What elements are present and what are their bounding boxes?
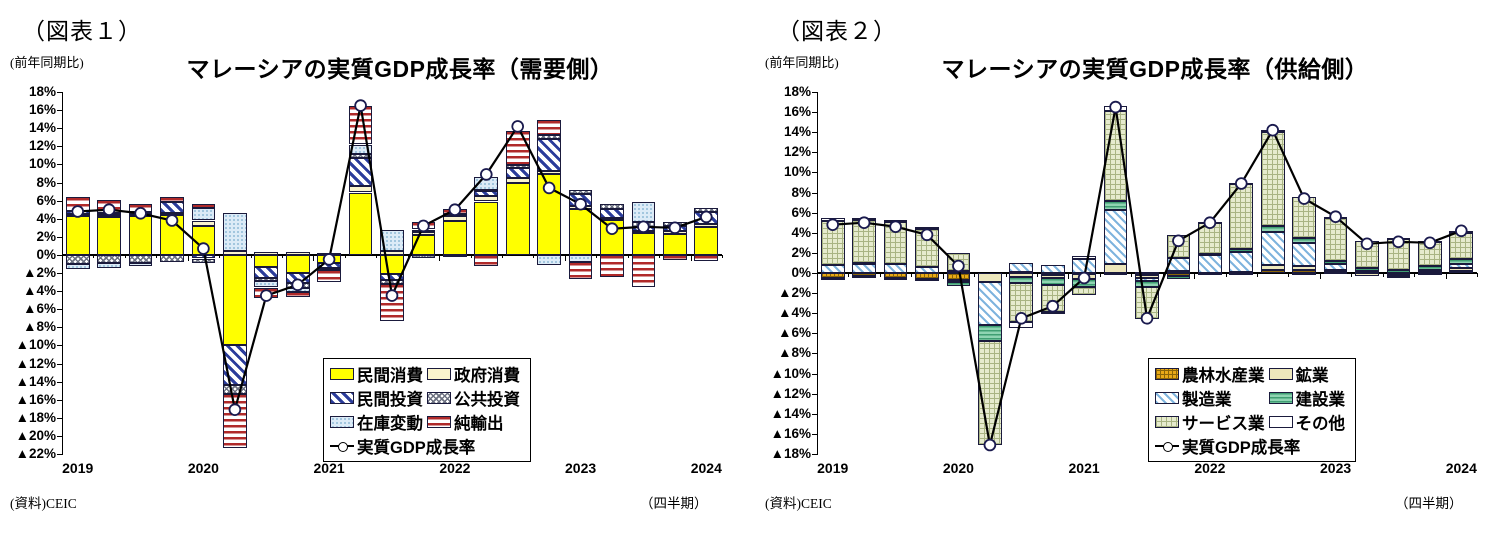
x-axis-label: 2021 bbox=[1052, 460, 1116, 476]
y-axis-label: 8% bbox=[4, 176, 56, 190]
y-axis-label: ▲16% bbox=[759, 427, 811, 441]
y-axis-label: 4% bbox=[4, 212, 56, 226]
legend-line-marker-icon bbox=[1155, 440, 1179, 452]
gdp-growth-marker bbox=[985, 440, 996, 451]
gdp-growth-marker bbox=[1205, 217, 1216, 228]
legend-item[interactable]: 実質GDP成長率 bbox=[330, 434, 524, 458]
gdp-growth-marker bbox=[418, 221, 429, 232]
legend-label: 民間投資 bbox=[357, 391, 423, 409]
legend-item[interactable]: 鉱業 bbox=[1269, 362, 1350, 386]
y-axis-label: ▲2% bbox=[4, 266, 56, 280]
x-axis-label: 2023 bbox=[549, 460, 613, 476]
legend-item[interactable]: その他 bbox=[1269, 410, 1350, 434]
gdp-growth-marker bbox=[1079, 273, 1090, 284]
y-axis-tick bbox=[57, 454, 63, 455]
y-axis-label: ▲14% bbox=[4, 375, 56, 389]
gdp-growth-marker bbox=[638, 221, 649, 232]
legend-item[interactable]: 農林水産業 bbox=[1155, 362, 1269, 386]
gdp-growth-marker bbox=[1393, 236, 1404, 247]
y-axis-tick bbox=[812, 454, 818, 455]
legend-label: 建設業 bbox=[1296, 391, 1346, 409]
legend-swatch-manufacturing bbox=[1155, 392, 1179, 404]
gdp-growth-marker bbox=[1173, 235, 1184, 246]
y-axis-label: 12% bbox=[759, 145, 811, 159]
y-axis-label: ▲8% bbox=[4, 320, 56, 334]
y-axis-label: ▲22% bbox=[4, 447, 56, 461]
y-axis-label: ▲18% bbox=[759, 447, 811, 461]
figure-2-title: マレーシアの実質GDP成長率（供給側） bbox=[855, 50, 1455, 84]
figure-2-number: （図表２） bbox=[777, 12, 897, 46]
legend-item[interactable]: 民間消費 bbox=[330, 362, 427, 386]
gdp-growth-marker bbox=[1016, 313, 1027, 324]
x-axis-tick bbox=[1477, 273, 1478, 277]
legend-swatch-private-investment bbox=[330, 392, 354, 404]
gdp-growth-marker bbox=[1456, 225, 1467, 236]
x-axis-label: 2023 bbox=[1304, 460, 1368, 476]
y-axis-label: 4% bbox=[759, 226, 811, 240]
legend-swatch-services bbox=[1155, 416, 1179, 428]
gdp-growth-marker bbox=[292, 279, 303, 290]
legend-item[interactable]: 実質GDP成長率 bbox=[1155, 434, 1349, 458]
legend-label: 実質GDP成長率 bbox=[357, 439, 475, 457]
legend-item[interactable]: 政府消費 bbox=[427, 362, 524, 386]
figure-1-title: マレーシアの実質GDP成長率（需要側） bbox=[100, 50, 700, 84]
y-axis-label: 0% bbox=[759, 266, 811, 280]
legend-swatch-inventory-change bbox=[330, 416, 354, 428]
legend-label: 農林水産業 bbox=[1182, 367, 1265, 385]
gdp-growth-marker bbox=[1047, 301, 1058, 312]
y-axis-label: 18% bbox=[759, 85, 811, 99]
x-axis-label: 2024 bbox=[674, 460, 738, 476]
legend-label: その他 bbox=[1296, 415, 1346, 433]
y-axis-label: ▲6% bbox=[4, 302, 56, 316]
legend-swatch-public-investment bbox=[427, 392, 451, 404]
legend-item[interactable]: 公共投資 bbox=[427, 386, 524, 410]
gdp-growth-line bbox=[833, 107, 1462, 445]
figure-2-plot-area: 18%16%14%12%10%8%6%4%2%0%▲2%▲4%▲6%▲8%▲10… bbox=[817, 92, 1477, 454]
legend-label: 公共投資 bbox=[454, 391, 520, 409]
y-axis-label: ▲14% bbox=[759, 407, 811, 421]
y-axis-label: ▲8% bbox=[759, 346, 811, 360]
legend-item[interactable]: 建設業 bbox=[1269, 386, 1350, 410]
figure-2-quarter-note: （四半期） bbox=[1395, 492, 1463, 512]
x-axis-label: 2024 bbox=[1429, 460, 1493, 476]
y-axis-label: ▲4% bbox=[4, 284, 56, 298]
x-axis-label: 2020 bbox=[171, 460, 235, 476]
figure-1-panel: （図表１） (前年同期比) マレーシアの実質GDP成長率（需要側） 18%16%… bbox=[0, 0, 754, 533]
gdp-growth-marker bbox=[1362, 238, 1373, 249]
gdp-growth-marker bbox=[355, 100, 366, 111]
gdp-growth-marker bbox=[481, 169, 492, 180]
y-axis-label: ▲20% bbox=[4, 429, 56, 443]
legend-swatch-government-consumption bbox=[427, 368, 451, 380]
y-axis-label: 6% bbox=[759, 206, 811, 220]
legend-item[interactable]: 民間投資 bbox=[330, 386, 427, 410]
gdp-growth-marker bbox=[670, 222, 681, 233]
legend-label: 在庫変動 bbox=[357, 415, 423, 433]
legend-swatch-net-exports bbox=[427, 416, 451, 428]
x-axis-label: 2021 bbox=[297, 460, 361, 476]
gdp-growth-line-layer bbox=[817, 92, 1477, 454]
legend-label: 政府消費 bbox=[454, 367, 520, 385]
figure-2-panel: （図表２） (前年同期比) マレーシアの実質GDP成長率（供給側） 18%16%… bbox=[755, 0, 1509, 533]
gdp-growth-marker bbox=[324, 254, 335, 265]
x-axis-label: 2020 bbox=[926, 460, 990, 476]
y-axis-label: ▲18% bbox=[4, 411, 56, 425]
gdp-growth-marker bbox=[104, 204, 115, 215]
gdp-growth-marker bbox=[198, 243, 209, 254]
legend-label: 民間消費 bbox=[357, 367, 423, 385]
gdp-growth-marker bbox=[1267, 125, 1278, 136]
x-axis-label: 2019 bbox=[46, 460, 110, 476]
x-axis-tick bbox=[722, 255, 723, 259]
legend-line-marker-icon bbox=[330, 440, 354, 452]
legend-item[interactable]: 純輸出 bbox=[427, 410, 524, 434]
y-axis-label: 0% bbox=[4, 248, 56, 262]
gdp-growth-marker bbox=[1142, 313, 1153, 324]
legend-label: 実質GDP成長率 bbox=[1182, 439, 1300, 457]
legend-item[interactable]: 在庫変動 bbox=[330, 410, 427, 434]
gdp-growth-marker bbox=[953, 261, 964, 272]
gdp-growth-marker bbox=[701, 212, 712, 223]
figure-2-legend: 農林水産業鉱業製造業建設業サービス業その他実質GDP成長率 bbox=[1148, 358, 1356, 462]
y-axis-label: ▲4% bbox=[759, 306, 811, 320]
gdp-growth-marker bbox=[575, 199, 586, 210]
gdp-growth-marker bbox=[72, 206, 83, 217]
legend-item[interactable]: サービス業 bbox=[1155, 410, 1269, 434]
gdp-growth-marker bbox=[922, 229, 933, 240]
figure-2-source: (資料)CEIC bbox=[765, 492, 832, 512]
y-axis-label: 10% bbox=[759, 165, 811, 179]
y-axis-label: 8% bbox=[759, 186, 811, 200]
x-axis-label: 2022 bbox=[423, 460, 487, 476]
figure-1-quarter-note: （四半期） bbox=[640, 492, 708, 512]
gdp-growth-marker bbox=[607, 223, 618, 234]
gdp-growth-marker bbox=[450, 204, 461, 215]
gdp-growth-marker bbox=[167, 215, 178, 226]
gdp-growth-marker bbox=[230, 404, 241, 415]
gdp-growth-marker bbox=[1330, 211, 1341, 222]
y-axis-label: 12% bbox=[4, 139, 56, 153]
legend-swatch-mining bbox=[1269, 368, 1293, 380]
y-axis-label: 10% bbox=[4, 157, 56, 171]
legend-swatch-agriculture bbox=[1155, 368, 1179, 380]
y-axis-label: 6% bbox=[4, 194, 56, 208]
gdp-growth-marker bbox=[1110, 102, 1121, 113]
y-axis-label: ▲6% bbox=[759, 326, 811, 340]
legend-item[interactable]: 製造業 bbox=[1155, 386, 1269, 410]
figures-page: （図表１） (前年同期比) マレーシアの実質GDP成長率（需要側） 18%16%… bbox=[0, 0, 1509, 533]
legend-swatch-private-consumption bbox=[330, 368, 354, 380]
legend-label: サービス業 bbox=[1182, 415, 1265, 433]
gdp-growth-marker bbox=[1236, 178, 1247, 189]
legend-label: 製造業 bbox=[1182, 391, 1232, 409]
figure-1-unit-note: (前年同期比) bbox=[10, 52, 84, 71]
gdp-growth-marker bbox=[512, 121, 523, 132]
y-axis-label: ▲10% bbox=[4, 338, 56, 352]
gdp-growth-marker bbox=[544, 183, 555, 194]
y-axis-label: 16% bbox=[759, 105, 811, 119]
y-axis-label: 18% bbox=[4, 85, 56, 99]
y-axis-label: ▲10% bbox=[759, 367, 811, 381]
y-axis-label: ▲12% bbox=[759, 387, 811, 401]
figure-2-unit-note: (前年同期比) bbox=[765, 52, 839, 71]
gdp-growth-marker bbox=[1299, 193, 1310, 204]
gdp-growth-marker bbox=[135, 208, 146, 219]
y-axis-label: 2% bbox=[759, 246, 811, 260]
y-axis-label: ▲16% bbox=[4, 393, 56, 407]
y-axis-label: ▲2% bbox=[759, 286, 811, 300]
y-axis-label: ▲12% bbox=[4, 357, 56, 371]
y-axis-label: 2% bbox=[4, 230, 56, 244]
y-axis-label: 16% bbox=[4, 103, 56, 117]
x-axis-label: 2019 bbox=[801, 460, 865, 476]
figure-1-legend: 民間消費政府消費民間投資公共投資在庫変動純輸出実質GDP成長率 bbox=[323, 358, 531, 462]
gdp-growth-marker bbox=[1425, 237, 1436, 248]
gdp-growth-marker bbox=[890, 221, 901, 232]
gdp-growth-marker bbox=[827, 219, 838, 230]
legend-label: 純輸出 bbox=[454, 415, 504, 433]
legend-swatch-others bbox=[1269, 416, 1293, 428]
figure-1-source: (資料)CEIC bbox=[10, 492, 77, 512]
y-axis-label: 14% bbox=[4, 121, 56, 135]
legend-label: 鉱業 bbox=[1296, 367, 1329, 385]
gdp-growth-marker bbox=[387, 290, 398, 301]
gdp-growth-marker bbox=[859, 217, 870, 228]
figure-1-number: （図表１） bbox=[22, 12, 142, 46]
y-axis-label: 14% bbox=[759, 125, 811, 139]
gdp-growth-marker bbox=[261, 290, 272, 301]
x-axis-label: 2022 bbox=[1178, 460, 1242, 476]
legend-swatch-construction bbox=[1269, 392, 1293, 404]
